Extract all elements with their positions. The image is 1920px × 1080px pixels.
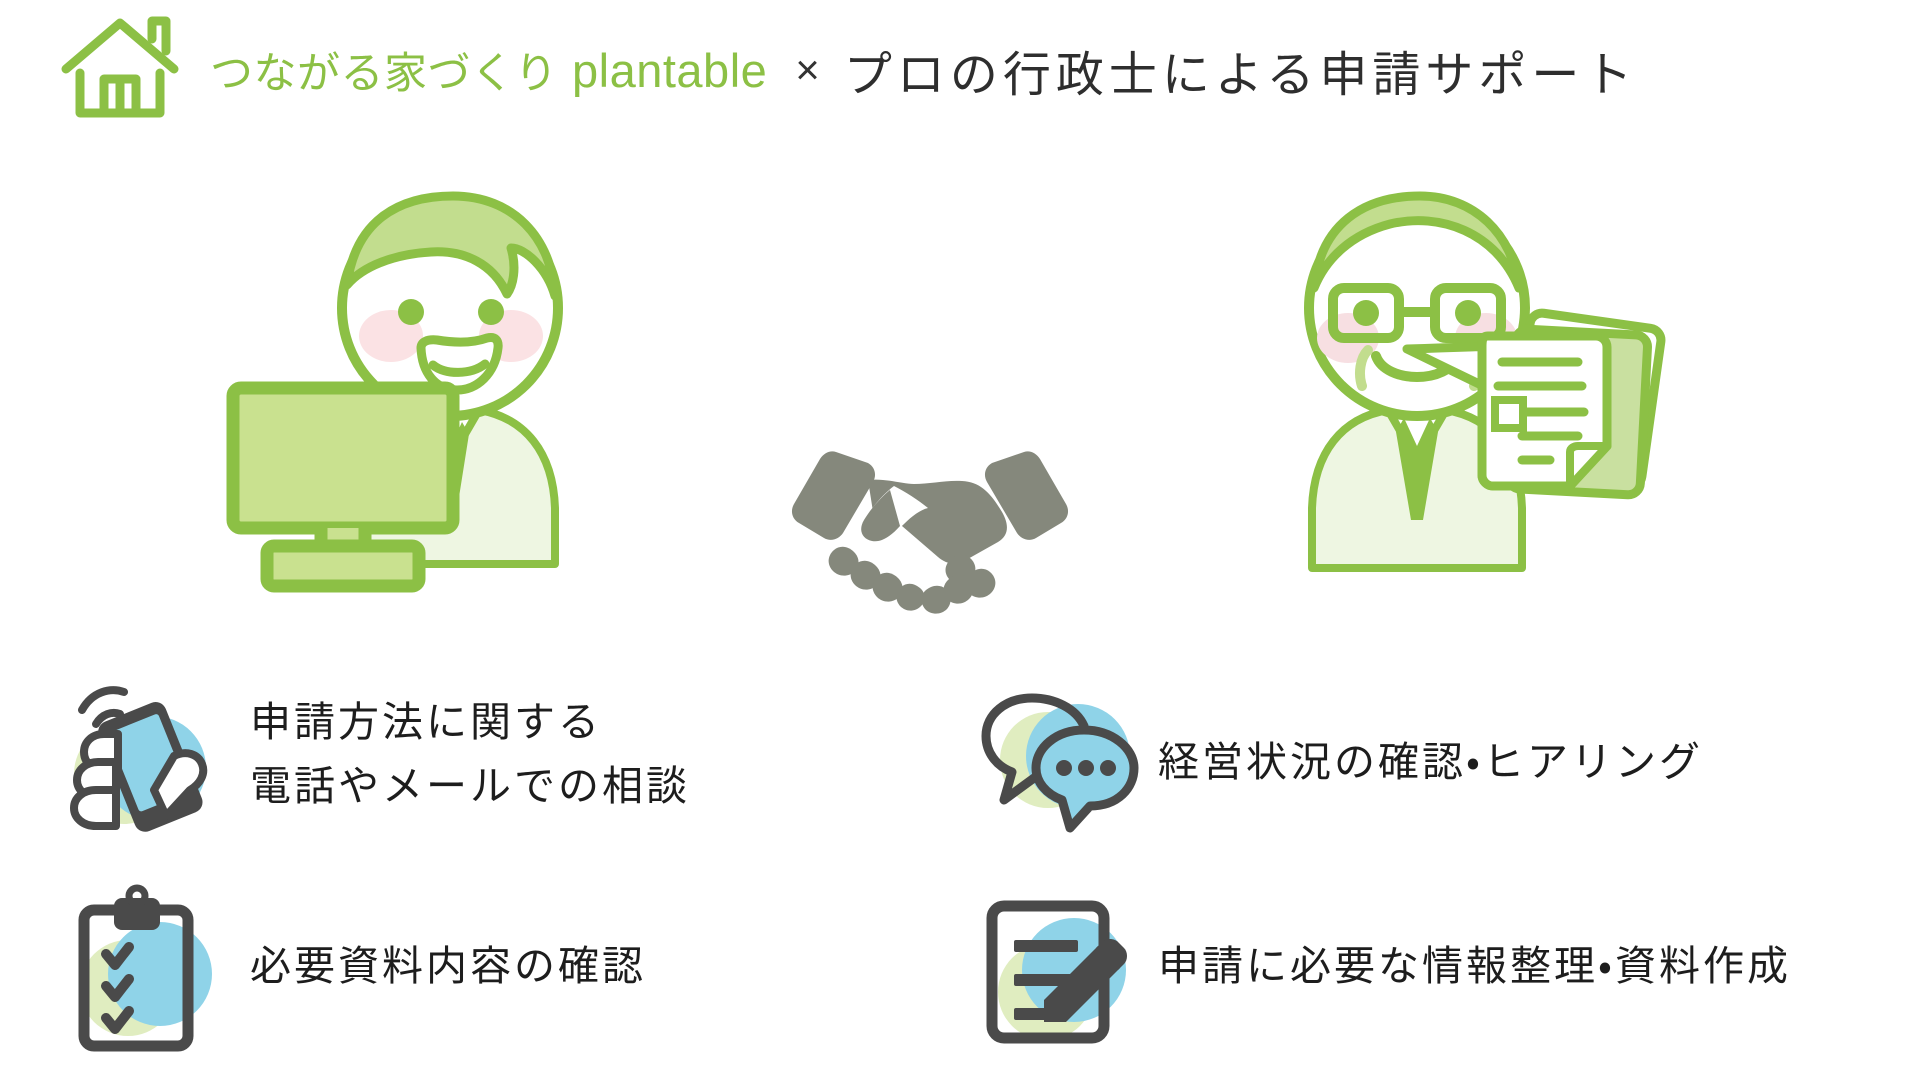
person-with-glasses-and-documents-illustration [1230, 160, 1710, 620]
person-at-computer-illustration [225, 160, 625, 620]
brand-name: plantable [572, 43, 767, 98]
feature-list: 申請方法に関する 電話やメールでの相談 経営状況の確認・ヒアリング [0, 660, 1920, 1080]
house-icon [60, 15, 188, 119]
feature-label: 申請に必要な情報整理・資料作成 [1158, 935, 1791, 999]
feature-phone-consult: 申請方法に関する 電話やメールでの相談 [62, 670, 690, 840]
hand-holding-smartphone-icon [62, 670, 232, 840]
brand-tagline: つながる家づくり [210, 39, 558, 101]
hero-illustration-row [0, 150, 1920, 620]
feature-document-check: 必要資料内容の確認 [62, 882, 646, 1052]
document-with-pencil-icon [978, 882, 1148, 1052]
poster-canvas: つながる家づくり plantable × プロの行政士による申請サポート [0, 0, 1920, 1080]
feature-document-prep: 申請に必要な情報整理・資料作成 [978, 882, 1791, 1052]
feature-label: 申請方法に関する 電話やメールでの相談 [250, 691, 690, 818]
speech-bubbles-icon [978, 678, 1148, 848]
page-title: プロの行政士による申請サポート [844, 35, 1638, 105]
feature-hearing: 経営状況の確認・ヒアリング [978, 678, 1703, 848]
ellipsis-dots [1056, 760, 1116, 776]
clipboard-ring [129, 888, 145, 904]
speech-bubble-front [1036, 730, 1134, 828]
cross-symbol: × [795, 46, 820, 94]
computer-monitor [233, 388, 453, 586]
feature-label: 経営状況の確認・ヒアリング [1158, 731, 1703, 795]
clipboard-checklist-icon [62, 882, 232, 1052]
header: つながる家づくり plantable × プロの行政士による申請サポート [0, 0, 1920, 140]
feature-label: 必要資料内容の確認 [250, 935, 646, 999]
handshake-icon [790, 440, 1070, 615]
